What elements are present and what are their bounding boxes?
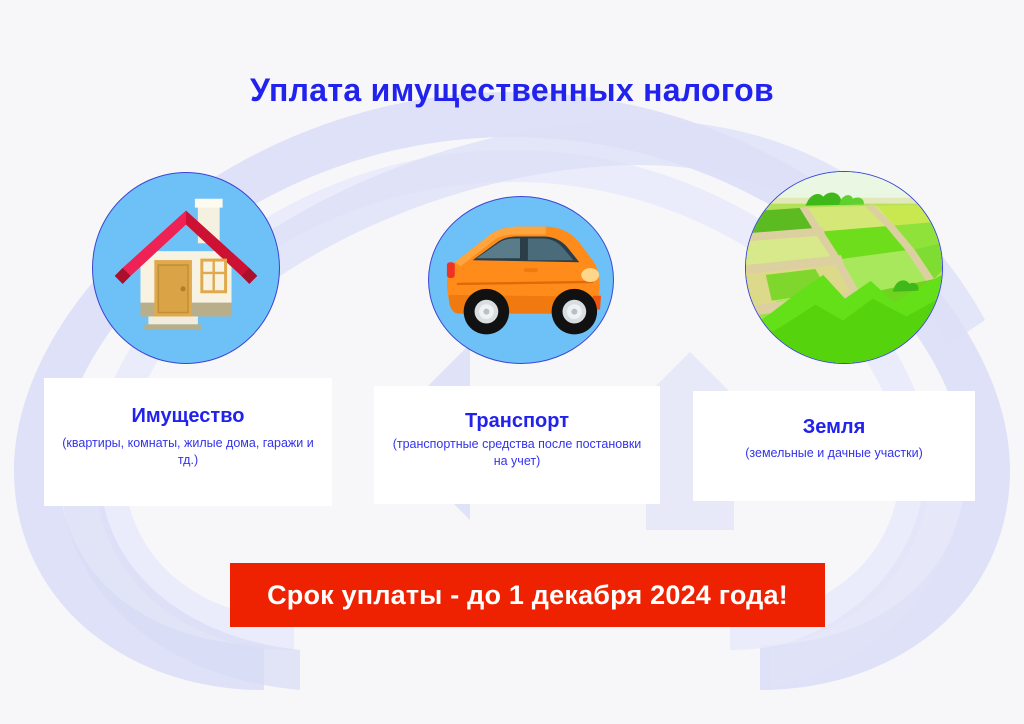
poster-root: Уплата имущественных налогов	[0, 0, 1024, 724]
card-transport-subtitle: (транспортные средства после постановки …	[374, 436, 660, 470]
deadline-banner: Срок уплаты - до 1 декабря 2024 года!	[230, 563, 825, 627]
car-icon	[429, 197, 613, 363]
card-property: Имущество (квартиры, комнаты, жилые дома…	[44, 378, 332, 506]
card-property-title: Имущество	[132, 405, 245, 427]
farmland-icon	[746, 172, 942, 363]
card-land-title: Земля	[803, 416, 866, 438]
card-property-subtitle: (квартиры, комнаты, жилые дома, гаражи и…	[44, 435, 332, 469]
house-icon	[93, 173, 279, 363]
card-land-subtitle: (земельные и дачные участки)	[731, 445, 937, 462]
card-land: Земля (земельные и дачные участки)	[693, 391, 975, 501]
icon-circle-property	[92, 172, 280, 364]
card-transport-inner: Транспорт (транспортные средства после п…	[374, 386, 660, 504]
card-transport-title: Транспорт	[465, 410, 569, 432]
card-transport: Транспорт (транспортные средства после п…	[374, 386, 660, 504]
page-title: Уплата имущественных налогов	[0, 72, 1024, 109]
card-land-inner: Земля (земельные и дачные участки)	[693, 391, 975, 501]
icon-circle-transport	[428, 196, 614, 364]
card-property-inner: Имущество (квартиры, комнаты, жилые дома…	[44, 378, 332, 506]
deadline-banner-text: Срок уплаты - до 1 декабря 2024 года!	[267, 580, 788, 611]
icon-circle-land	[745, 171, 943, 364]
